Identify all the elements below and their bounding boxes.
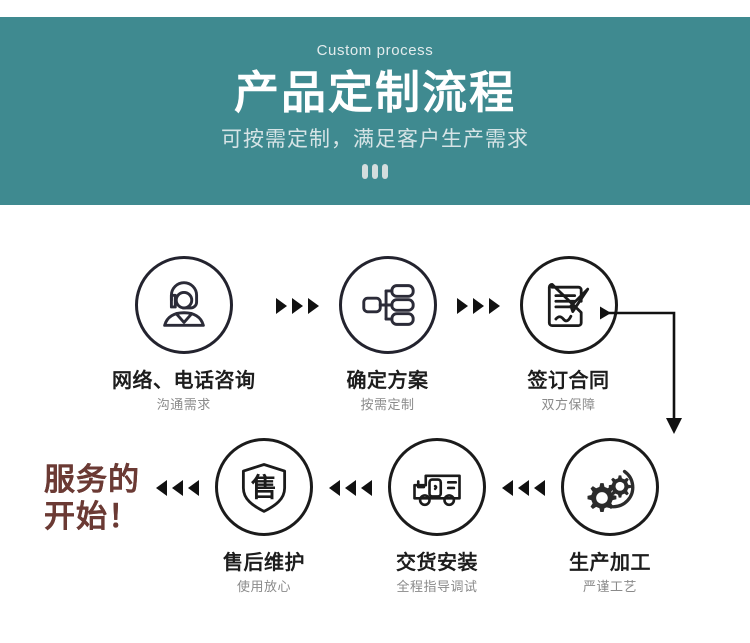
chevron-left-icon bbox=[156, 480, 167, 496]
page-title: 产品定制流程 bbox=[234, 70, 516, 115]
hero-subtitle: 可按需定制，满足客户生产需求 bbox=[221, 129, 529, 150]
process-step-delivery: 交货安装 全程指导调试 bbox=[388, 438, 486, 594]
gears-icon-circle bbox=[561, 438, 659, 536]
chevron-left-icon bbox=[502, 480, 513, 496]
arrow-group-5 bbox=[502, 480, 545, 496]
process-step-consultation: 网络、电话咨询 沟通需求 bbox=[112, 256, 256, 412]
hero-banner: Custom process 产品定制流程 可按需定制，满足客户生产需求 bbox=[0, 17, 750, 205]
step-title: 确定方案 bbox=[347, 370, 429, 390]
hero-dots-decoration bbox=[362, 164, 388, 179]
chevron-left-icon bbox=[345, 480, 356, 496]
step-title: 网络、电话咨询 bbox=[112, 370, 256, 390]
chevron-right-icon bbox=[457, 298, 468, 314]
headset-person-icon-circle bbox=[135, 256, 233, 354]
delivery-truck-icon bbox=[407, 457, 467, 517]
delivery-truck-icon-circle bbox=[388, 438, 486, 536]
chevron-right-icon bbox=[308, 298, 319, 314]
step-subtitle: 双方保障 bbox=[541, 399, 595, 412]
hero-eyebrow: Custom process bbox=[317, 43, 434, 58]
chevron-left-icon bbox=[329, 480, 340, 496]
chevron-left-icon bbox=[188, 480, 199, 496]
chevron-left-icon bbox=[361, 480, 372, 496]
chevron-right-icon bbox=[489, 298, 500, 314]
arrow-group-4 bbox=[329, 480, 372, 496]
svg-text:售: 售 bbox=[251, 472, 277, 503]
step-subtitle: 全程指导调试 bbox=[396, 581, 477, 594]
service-mark-line-2: 开始！ bbox=[44, 499, 140, 536]
process-step-plan: 确定方案 按需定制 bbox=[339, 256, 437, 412]
shield-after-sales-icon: 售 bbox=[234, 457, 294, 517]
arrow-group-1 bbox=[276, 298, 319, 314]
dot-2 bbox=[372, 164, 378, 179]
flowchart-icon-circle bbox=[339, 256, 437, 354]
service-start-wordmark: 服务的 开始！ bbox=[44, 462, 140, 535]
arrow-down-icon bbox=[666, 418, 682, 434]
step-subtitle: 沟通需求 bbox=[157, 399, 211, 412]
arrow-group-2 bbox=[457, 298, 500, 314]
service-mark-line-1: 服务的 bbox=[44, 462, 140, 499]
elbow-connector-arrow bbox=[600, 306, 710, 438]
chevron-left-icon bbox=[534, 480, 545, 496]
chevron-left-icon bbox=[172, 480, 183, 496]
process-row-2: 服务的 开始！ 售 售后维护 使用放心 bbox=[0, 438, 750, 594]
arrow-group-3 bbox=[156, 480, 199, 496]
chevron-right-icon bbox=[600, 307, 611, 320]
shield-after-sales-icon-circle: 售 bbox=[215, 438, 313, 536]
headset-person-icon bbox=[153, 274, 215, 336]
step-title: 签订合同 bbox=[528, 370, 610, 390]
chevron-right-icon bbox=[473, 298, 484, 314]
dot-1 bbox=[362, 164, 368, 179]
chevron-right-icon bbox=[292, 298, 303, 314]
step-title: 交货安装 bbox=[396, 552, 478, 572]
step-subtitle: 严谨工艺 bbox=[583, 581, 637, 594]
chevron-left-icon bbox=[518, 480, 529, 496]
step-title: 生产加工 bbox=[569, 552, 651, 572]
page-root: Custom process 产品定制流程 可按需定制，满足客户生产需求 bbox=[0, 0, 750, 643]
process-step-production: 生产加工 严谨工艺 bbox=[561, 438, 659, 594]
step-subtitle: 按需定制 bbox=[360, 399, 414, 412]
step-subtitle: 使用放心 bbox=[237, 581, 291, 594]
flowchart-icon bbox=[357, 274, 419, 336]
step-title: 售后维护 bbox=[223, 552, 305, 572]
contract-pen-icon bbox=[539, 275, 599, 335]
dot-3 bbox=[382, 164, 388, 179]
process-step-after-sales: 售 售后维护 使用放心 bbox=[215, 438, 313, 594]
chevron-right-icon bbox=[276, 298, 287, 314]
gears-icon bbox=[579, 456, 641, 518]
